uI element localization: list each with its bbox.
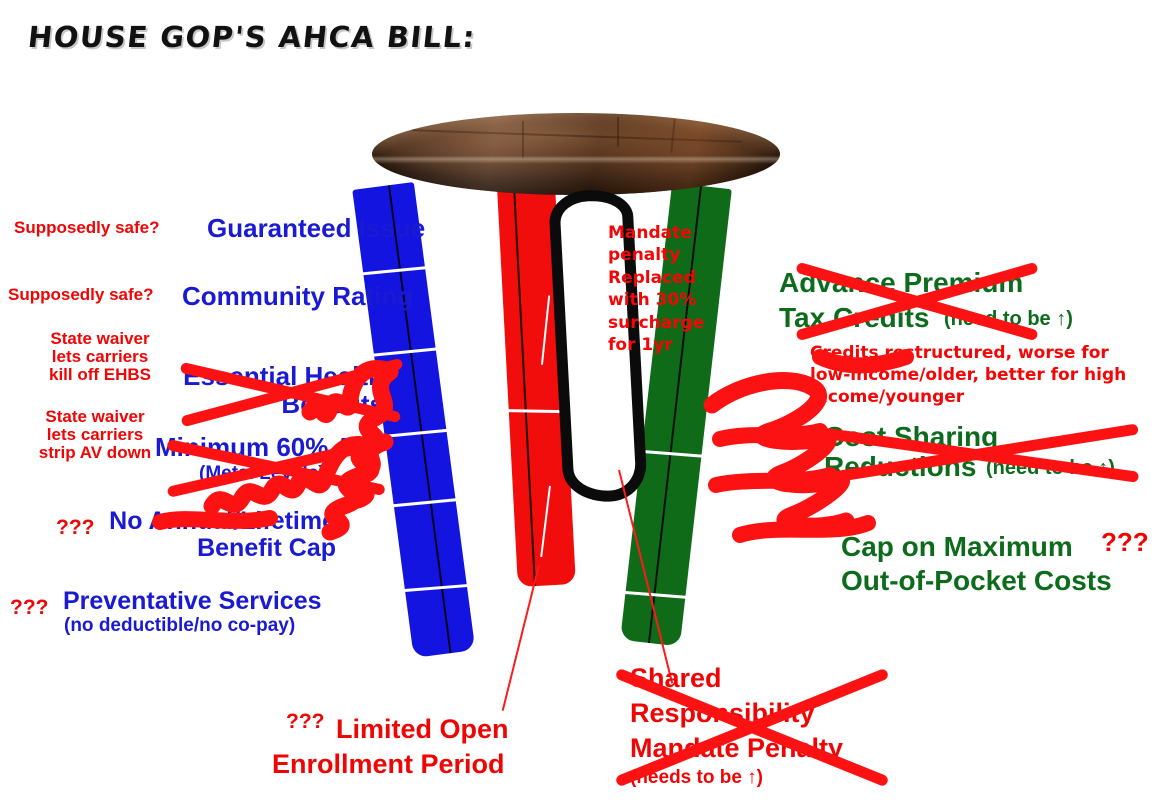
leg-red-body bbox=[497, 184, 576, 586]
marker-cap-maximum: ??? bbox=[1101, 529, 1149, 557]
marker-benefit-cap: ??? bbox=[56, 517, 94, 539]
item-cap-maximum-line1: Cap on Maximum bbox=[841, 532, 1073, 562]
stool-seat bbox=[372, 113, 780, 195]
annotation-community-rating: Supposedly safe? bbox=[8, 286, 153, 304]
stool-leg-red bbox=[497, 184, 576, 586]
infographic-canvas: HOUSE GOP'S AHCA BILL: Supposedly safe? … bbox=[0, 0, 1160, 800]
marker-preventative-services: ??? bbox=[10, 597, 48, 619]
seat-grain-1 bbox=[412, 129, 742, 143]
item-open-enrollment-line2: Enrollment Period bbox=[272, 750, 505, 779]
item-community-rating: Community Rating bbox=[182, 283, 413, 311]
item-guaranteed-issue: Guaranteed Issue bbox=[207, 215, 425, 243]
marker-open-enrollment: ??? bbox=[286, 711, 324, 733]
annotation-minimum-av: State waiver lets carriers strip AV down bbox=[14, 408, 176, 462]
note-mandate-penalty: Mandate penalty Replaced with 30% surcha… bbox=[608, 222, 704, 357]
item-cap-maximum-line2: Out-of-Pocket Costs bbox=[841, 566, 1112, 596]
page-title: HOUSE GOP'S AHCA BILL: bbox=[26, 20, 477, 54]
stool-leg-blue bbox=[352, 182, 475, 658]
seat-grain-4 bbox=[670, 119, 676, 153]
item-preventative-services-sub: (no deductible/no co-pay) bbox=[64, 616, 295, 636]
item-open-enrollment-line1: Limited Open bbox=[336, 715, 509, 744]
seat-grain-3 bbox=[617, 117, 619, 147]
note-advance-premium: Credits restructured, worse for low-inco… bbox=[810, 342, 1126, 408]
item-benefit-cap: No Annual/Lifetime Benefit Cap bbox=[104, 508, 336, 561]
item-preventative-services: Preventative Services bbox=[63, 588, 322, 615]
annotation-guaranteed-issue: Supposedly safe? bbox=[14, 219, 159, 237]
annotation-essential-health-benefits: State waiver lets carriers kill off EHBS bbox=[20, 330, 180, 384]
seat-grain-2 bbox=[522, 121, 524, 159]
